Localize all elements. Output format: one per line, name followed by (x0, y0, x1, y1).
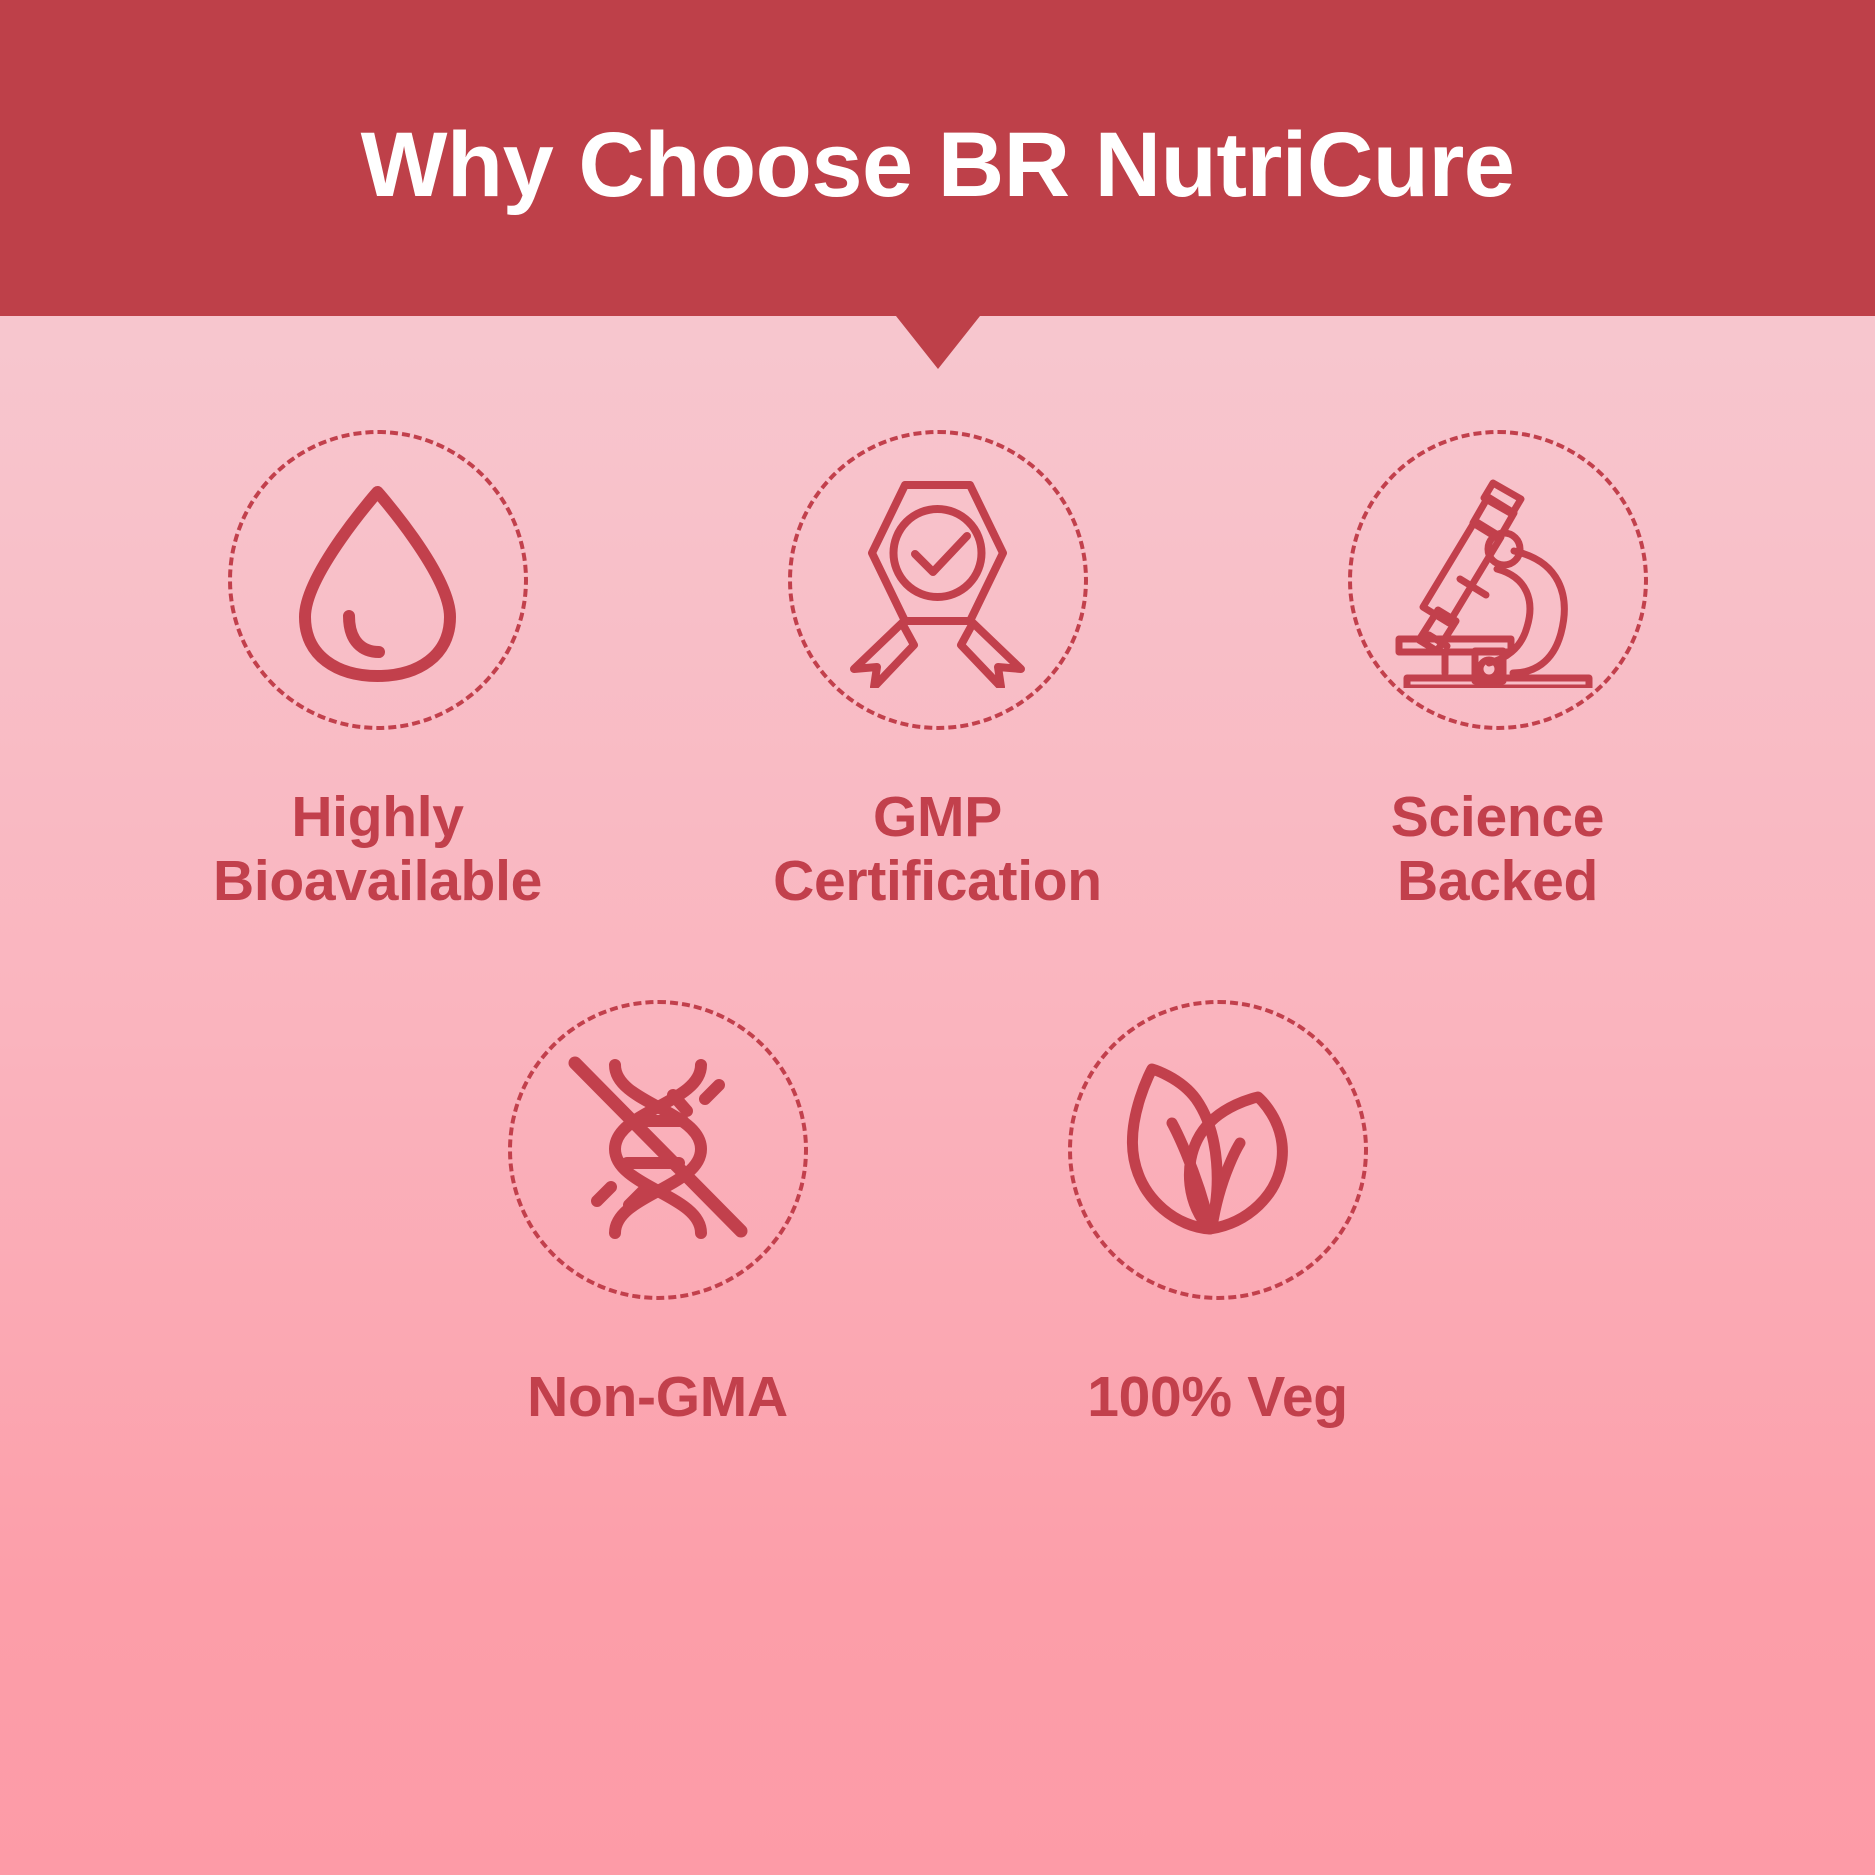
icon-ring-microscope (1348, 430, 1648, 730)
icon-ring-leaves (1068, 1000, 1368, 1300)
feature-non-gma[interactable]: Non-GMA (378, 1000, 938, 1430)
feature-label: Highly Bioavailable (213, 786, 542, 914)
infographic-page: Why Choose BR NutriCure Highly Bioavaila… (0, 0, 1875, 1875)
dna-no-icon (553, 1045, 763, 1255)
page-title: Why Choose BR NutriCure (0, 0, 1875, 316)
certificate-badge-icon (830, 473, 1045, 688)
microscope-icon (1393, 473, 1603, 688)
icon-ring-dna (508, 1000, 808, 1300)
feature-label: Science Backed (1391, 786, 1604, 914)
icon-ring-certificate (788, 430, 1088, 730)
leaves-icon (1118, 1055, 1318, 1245)
feature-label: Non-GMA (527, 1366, 788, 1430)
header-pointer-triangle (896, 316, 980, 369)
feature-label: 100% Veg (1087, 1366, 1348, 1430)
water-droplet-icon (285, 478, 470, 683)
feature-row-1: Highly Bioavailable GMP Certification (0, 430, 1875, 914)
feature-100-veg[interactable]: 100% Veg (938, 1000, 1498, 1430)
feature-gmp-certification[interactable]: GMP Certification (658, 430, 1218, 914)
feature-row-2: Non-GMA 100% Veg (0, 1000, 1875, 1430)
feature-highly-bioavailable[interactable]: Highly Bioavailable (98, 430, 658, 914)
feature-label: GMP Certification (773, 786, 1102, 914)
feature-science-backed[interactable]: Science Backed (1218, 430, 1778, 914)
icon-ring-droplet (228, 430, 528, 730)
